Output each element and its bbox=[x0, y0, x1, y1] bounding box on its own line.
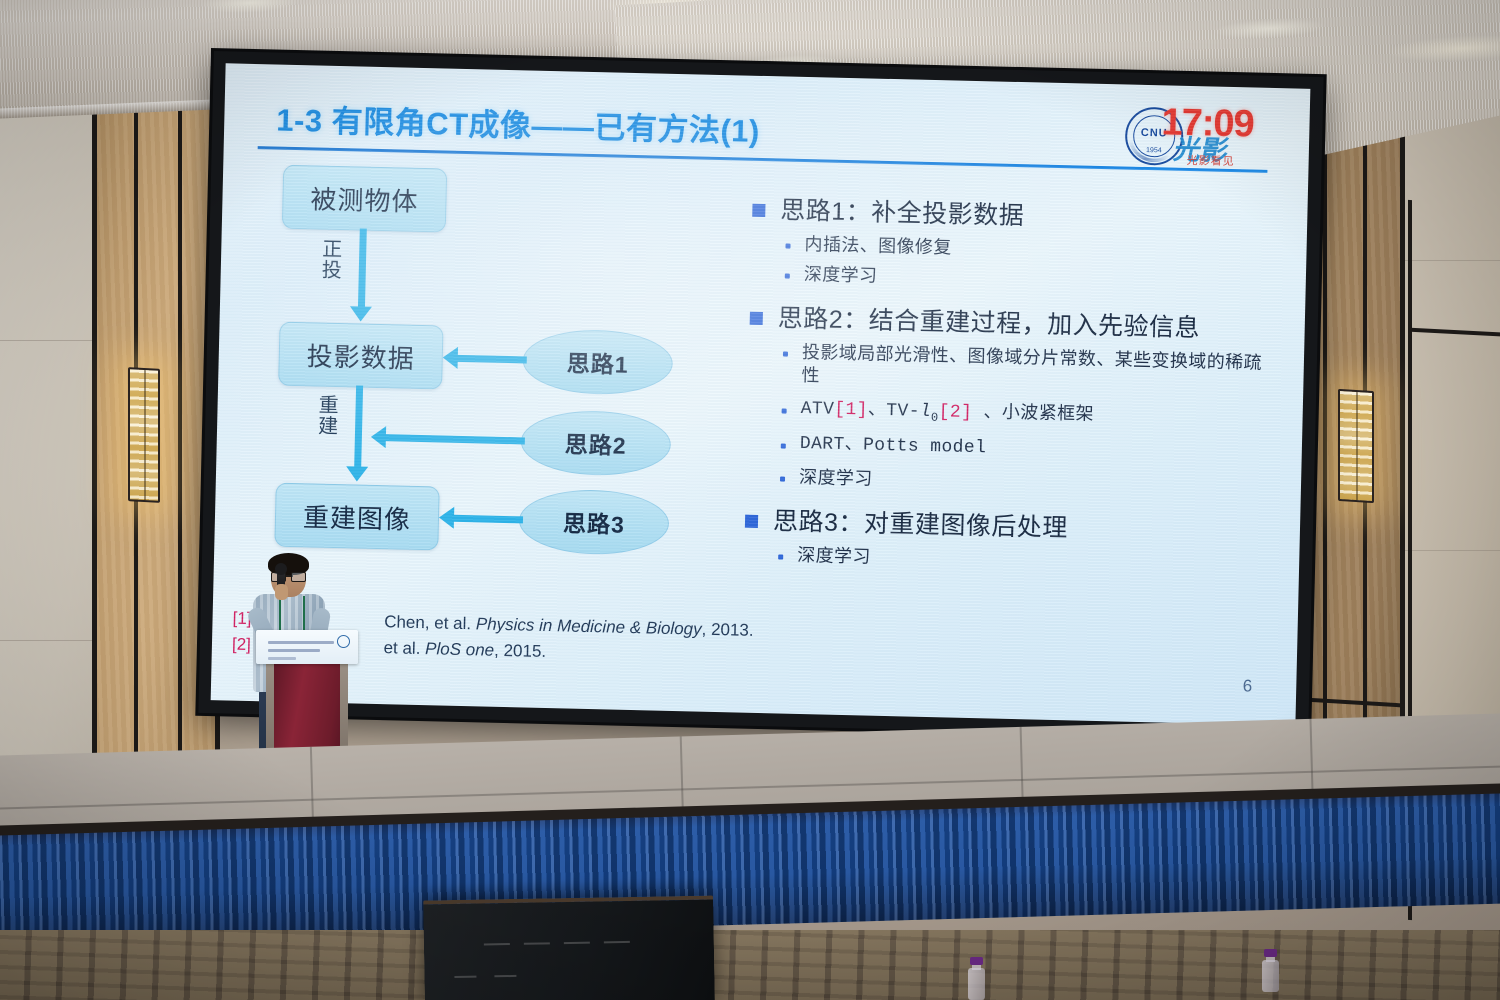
water-bottle bbox=[1262, 950, 1279, 992]
bullet-level2: 内插法、图像修复 bbox=[785, 233, 1271, 268]
bullet-dot-icon bbox=[782, 408, 787, 413]
bullet-sub-2-deep: 深度学习 bbox=[799, 466, 873, 491]
flow-branch-3: 思路3 bbox=[518, 488, 669, 556]
bullet-level2: 深度学习 bbox=[785, 263, 1271, 298]
presentation-slide: 1-3 有限角CT成像——已有方法(1) CNU 1954 17:09 光影 光… bbox=[211, 63, 1311, 725]
bullet-heading-2: 思路2：结合重建过程，加入先验信息 bbox=[777, 302, 1200, 344]
bullet-sub-2-dart: DART、Potts model bbox=[800, 433, 987, 461]
flow-branch-arrow bbox=[385, 434, 525, 444]
bullet-dot-icon bbox=[785, 274, 790, 279]
flow-node-image: 重建图像 bbox=[274, 483, 439, 551]
bullet-heading-3: 思路3：对重建图像后处理 bbox=[773, 505, 1069, 544]
flow-branch-arrow-head bbox=[443, 346, 459, 368]
left-wall-sconce bbox=[128, 367, 160, 503]
flow-branch-1: 思路1 bbox=[522, 328, 673, 396]
bullet-heading-1: 思路1：补全投影数据 bbox=[780, 194, 1025, 232]
bullet-dot-icon bbox=[780, 477, 785, 482]
bullet-list: 思路1：补全投影数据 内插法、图像修复 深度学习 思路2：结合重建过程，加入先验… bbox=[744, 194, 1273, 585]
conference-photo: 1-3 有限角CT成像——已有方法(1) CNU 1954 17:09 光影 光… bbox=[0, 0, 1500, 1000]
bullet-dot-icon bbox=[785, 244, 790, 249]
bullet-level2: DART、Potts model bbox=[781, 432, 1267, 467]
citation-2: [2] bbox=[938, 402, 972, 423]
podium-sign bbox=[256, 630, 358, 664]
speaker-hand bbox=[275, 584, 288, 600]
flowchart: 被测物体 正投 投影数据 重建 重建图像 思路1 思路2 bbox=[265, 164, 695, 604]
ref-year-1: 2013. bbox=[711, 620, 754, 640]
bullet-square-icon bbox=[745, 514, 758, 527]
ref-authors-1: Chen, et al. bbox=[384, 612, 471, 633]
bullet-sub-2-formula: ATV[1]、TV-l0[2] 、小波紧框架 bbox=[800, 398, 1094, 430]
led-screen[interactable]: 1-3 有限角CT成像——已有方法(1) CNU 1954 17:09 光影 光… bbox=[198, 51, 1323, 739]
flow-arrow-shaft bbox=[358, 229, 367, 311]
bullet-dot-icon bbox=[783, 351, 788, 356]
flow-arrow-head bbox=[346, 466, 368, 482]
bullet-sub-3-1: 深度学习 bbox=[797, 543, 871, 568]
formula-sep: 、TV- bbox=[868, 400, 920, 421]
flow-branch-2: 思路2 bbox=[520, 409, 671, 477]
bullet-level1: 思路2：结合重建过程，加入先验信息 bbox=[749, 302, 1270, 346]
podium-sign-logo-icon bbox=[337, 635, 350, 648]
bullet-level2: 深度学习 bbox=[780, 466, 1266, 501]
flow-node-object: 被测物体 bbox=[282, 165, 447, 233]
ref-year-2: 2015. bbox=[503, 641, 546, 661]
flow-arrow-label-reconstruct: 重建 bbox=[317, 396, 340, 439]
atv-prefix: ATV bbox=[800, 399, 834, 420]
foreground-monitor-back bbox=[423, 895, 715, 1000]
bullet-level1: 思路3：对重建图像后处理 bbox=[745, 504, 1266, 548]
bullet-level2: 深度学习 bbox=[778, 543, 1264, 578]
bullet-dot-icon bbox=[778, 554, 783, 559]
bullet-level1: 思路1：补全投影数据 bbox=[752, 194, 1273, 238]
brand-mark-subtitle: 光影看见 bbox=[1186, 152, 1234, 169]
slide-logo-cluster: CNU 1954 17:09 光影 光影看见 bbox=[1125, 99, 1277, 169]
bullet-sub-1-1: 内插法、图像修复 bbox=[804, 233, 952, 260]
flow-branch-arrow bbox=[453, 515, 523, 524]
bullet-level2: 投影域局部光滑性、图像域分片常数、某些变换域的稀疏性 bbox=[782, 340, 1269, 398]
flow-node-projection: 投影数据 bbox=[278, 322, 443, 390]
flow-branch-arrow-head bbox=[439, 506, 455, 528]
flow-branch-arrow bbox=[457, 355, 527, 364]
slide-title: 1-3 有限角CT成像——已有方法(1) bbox=[276, 95, 761, 151]
bullet-level2: ATV[1]、TV-l0[2] 、小波紧框架 bbox=[781, 397, 1267, 434]
bullet-sub-1-2: 深度学习 bbox=[804, 263, 878, 288]
slide-page-number: 6 bbox=[1243, 676, 1253, 696]
bullet-square-icon bbox=[750, 311, 763, 324]
flow-arrow-head bbox=[350, 306, 372, 322]
ref-journal-2: PloS one bbox=[425, 639, 494, 660]
water-bottle bbox=[968, 958, 985, 1000]
bullet-sub-2-1: 投影域局部光滑性、图像域分片常数、某些变换域的稀疏性 bbox=[801, 341, 1269, 399]
citation-1: [1] bbox=[834, 399, 868, 420]
flow-arrow-shaft bbox=[354, 385, 363, 471]
formula-tail: 、小波紧框架 bbox=[972, 403, 1094, 426]
ref-authors-2: et al. bbox=[383, 638, 420, 658]
flow-arrow-label-forward: 正投 bbox=[321, 240, 344, 283]
screen-panel: 1-3 有限角CT成像——已有方法(1) CNU 1954 17:09 光影 光… bbox=[211, 63, 1311, 725]
ref-journal-1: Physics in Medicine & Biology bbox=[476, 614, 702, 638]
bullet-dot-icon bbox=[781, 443, 786, 448]
flow-branch-arrow-head bbox=[371, 426, 387, 448]
bullet-square-icon bbox=[752, 204, 765, 217]
right-wall-sconce bbox=[1338, 389, 1374, 503]
